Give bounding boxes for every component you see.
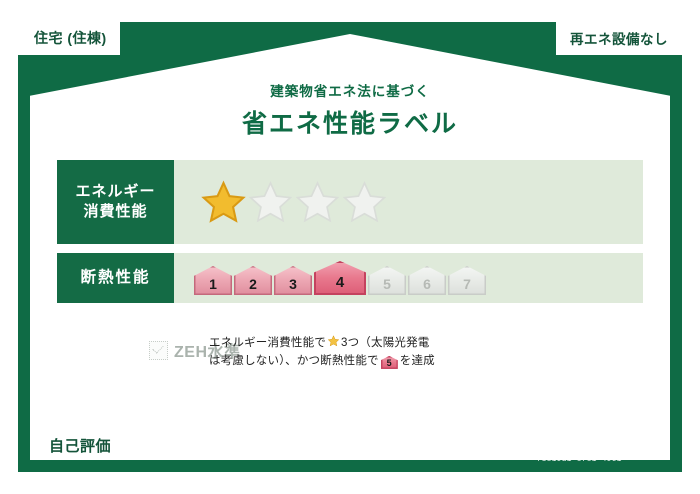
zeh-description-line2: は考慮しない）、かつ断熱性能で 5 を達成 — [209, 353, 643, 371]
insulation-chip: 7 — [448, 266, 486, 295]
renewable-energy-tag: 再エネ設備なし — [556, 22, 682, 55]
evaluation-id: 73819d1-c7e1-4961 — [510, 455, 648, 464]
insulation-chip: 2 — [234, 266, 272, 295]
insulation-chip-value: 6 — [423, 277, 431, 291]
performance-rows: エネルギー 消費性能 断熱性能 1234567 — [57, 160, 643, 312]
insulation-row: 断熱性能 1234567 — [57, 253, 643, 303]
insulation-body: 1234567 — [174, 253, 643, 303]
insulation-chip-value: 2 — [249, 277, 257, 291]
insulation-chip-inline: 5 — [381, 356, 398, 369]
insulation-grade-scale: 1234567 — [194, 261, 486, 295]
energy-consumption-label: エネルギー 消費性能 — [57, 160, 174, 244]
insulation-chip: 1 — [194, 266, 232, 295]
star-icon-empty — [247, 180, 294, 225]
energy-label-line1: エネルギー — [75, 182, 155, 202]
zeh-description-line1: エネルギー消費性能で 3つ（太陽光発電 — [209, 335, 643, 353]
energy-consumption-row: エネルギー 消費性能 — [57, 160, 643, 244]
inline-chip-value: 5 — [387, 358, 392, 368]
insulation-chip-value: 3 — [289, 277, 297, 291]
star-icon-empty — [294, 180, 341, 225]
evaluation-date: 評価日 2025年1月30日 — [510, 434, 648, 453]
insulation-chip-value: 1 — [209, 277, 217, 291]
zeh-desc-text-b: 3つ（太陽光発電 — [341, 337, 430, 349]
zeh-desc-text-c: は考慮しない）、かつ断熱性能で — [209, 355, 379, 367]
zeh-desc-text-a: エネルギー消費性能で — [209, 337, 326, 349]
insulation-chip: 4 — [314, 261, 366, 295]
energy-label-line2: 消費性能 — [75, 202, 155, 222]
building-type-tag: 住宅 (住棟) — [18, 22, 120, 55]
property-address: 神奈川県大和市渋谷5丁目 — [122, 437, 270, 456]
checkbox-unchecked-icon — [149, 341, 168, 360]
energy-performance-label: 住宅 (住棟) 再エネ設備なし 建築物省エネ法に基づく 省エネ性能ラベル エネル… — [0, 0, 700, 494]
insulation-chip: 6 — [408, 266, 446, 295]
page-title: 省エネ性能ラベル — [0, 104, 700, 140]
label-title-block: 建築物省エネ法に基づく 省エネ性能ラベル — [0, 80, 700, 140]
footer-right: 評価日 2025年1月30日 73819d1-c7e1-4961 — [510, 434, 648, 464]
insulation-label: 断熱性能 — [57, 253, 174, 303]
label-subtitle: 建築物省エネ法に基づく — [0, 80, 700, 100]
insulation-chip-value: 4 — [336, 275, 344, 291]
insulation-chip: 3 — [274, 266, 312, 295]
zeh-description: エネルギー消費性能で 3つ（太陽光発電 は考慮しない）、かつ断熱性能で 5 を達… — [209, 333, 643, 371]
insulation-chip: 5 — [368, 266, 406, 295]
energy-consumption-body — [174, 160, 643, 244]
self-evaluation-badge: 自己評価 — [42, 432, 118, 460]
star-rating — [200, 180, 388, 225]
insulation-chip-value: 7 — [463, 277, 471, 291]
insulation-chip-value: 5 — [383, 277, 391, 291]
footer-left: 自己評価 神奈川県大和市渋谷5丁目 — [42, 432, 270, 460]
star-icon-empty — [341, 180, 388, 225]
zeh-badge: ZEH水準 — [57, 333, 209, 362]
star-icon-inline — [327, 335, 340, 347]
zeh-note-area: ZEH水準 エネルギー消費性能で 3つ（太陽光発電 は考慮しない）、かつ断熱性能… — [57, 333, 643, 371]
star-icon-filled — [200, 180, 247, 225]
zeh-desc-text-d: を達成 — [400, 355, 435, 367]
